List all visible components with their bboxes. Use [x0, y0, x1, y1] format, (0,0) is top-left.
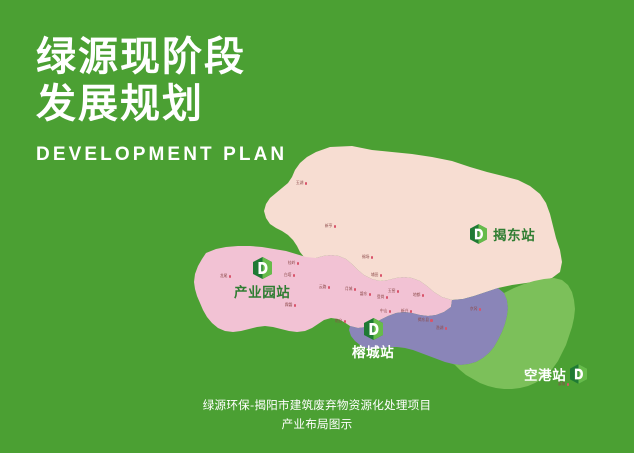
city-name-label: 锡场 — [362, 255, 370, 260]
city-name-label: 霖磐 — [285, 303, 293, 308]
poster-title-line-1: 绿源现阶段 — [36, 34, 287, 81]
city-dot: 新兴 — [401, 309, 412, 314]
city-dot-glyph — [430, 319, 433, 322]
station-marker-rongcheng[interactable]: 榕城站 — [352, 318, 394, 361]
city-dot-glyph — [386, 296, 389, 299]
city-dot: 锡场 — [362, 255, 373, 260]
city-dot-glyph — [369, 293, 372, 296]
city-dot: 霖磐 — [285, 303, 296, 308]
lvyuan-logo-icon — [570, 364, 587, 384]
station-marker-konggang[interactable]: 空港站 — [524, 364, 587, 384]
city-dot-glyph — [328, 286, 331, 289]
city-name-label: 云路 — [319, 285, 327, 290]
city-dot: 渔湖 — [436, 326, 447, 331]
poster-subtitle-en: DEVELOPMENT PLAN — [36, 144, 287, 166]
city-dot: 埔田 — [371, 273, 382, 278]
caption-line-2: 产业布局图示 — [0, 415, 634, 434]
station-label-konggang: 空港站 — [524, 364, 566, 384]
city-dot: 磐东 — [360, 292, 371, 297]
city-dot-glyph — [422, 294, 425, 297]
city-dot: 玉湖 — [296, 181, 307, 186]
city-name-label: 新亨 — [325, 224, 333, 229]
city-dot-glyph — [293, 274, 296, 277]
city-dot: 中山 — [380, 309, 391, 314]
title-block: 绿源现阶段 发展规划 DEVELOPMENT PLAN — [36, 34, 287, 166]
city-dot-glyph — [344, 320, 347, 323]
city-dot: 炮台 — [335, 319, 346, 324]
city-dot: 揭东县 — [418, 318, 433, 323]
city-dot-glyph — [371, 256, 374, 259]
city-name-label: 登岗 — [377, 295, 385, 300]
city-dot-glyph — [479, 308, 482, 311]
city-name-label: 玉湖 — [296, 181, 304, 186]
city-dot-glyph — [445, 327, 448, 330]
city-dot-glyph — [380, 274, 383, 277]
city-dot-glyph — [354, 288, 357, 291]
city-name-label: 渔湖 — [436, 326, 444, 331]
city-dot-glyph — [410, 310, 413, 313]
city-name-label: 玉窖 — [388, 289, 396, 294]
station-label-rongcheng: 榕城站 — [352, 341, 394, 361]
city-dot-glyph — [389, 310, 392, 313]
station-marker-jiedong[interactable]: 揭东站 — [470, 224, 535, 244]
lvyuan-logo-icon — [253, 257, 272, 279]
poster-root: 玉湖新亨锡场龙尾桂岭白塔云路霖磐月城埔田磐东登岗玉窖中山新兴地都炮台揭东县渔湖京… — [0, 0, 634, 453]
city-dot: 新亨 — [325, 224, 336, 229]
city-dot: 龙尾 — [220, 274, 231, 279]
city-name-label: 龙尾 — [220, 274, 228, 279]
lvyuan-logo-icon — [470, 224, 487, 244]
city-name-label: 地都 — [413, 293, 421, 298]
city-dot-glyph — [397, 290, 400, 293]
city-name-label: 炮台 — [335, 319, 343, 324]
city-dot: 地都 — [413, 293, 424, 298]
city-dot-glyph — [229, 275, 232, 278]
station-marker-chanyeyuan[interactable]: 产业园站 — [234, 257, 290, 301]
city-dot: 月城 — [345, 287, 356, 292]
lvyuan-logo-icon — [364, 318, 383, 340]
city-name-label: 新兴 — [401, 309, 409, 314]
city-dot-glyph — [334, 225, 337, 228]
city-dot-glyph — [297, 262, 300, 265]
city-dot-glyph — [294, 304, 297, 307]
city-dot: 玉窖 — [388, 289, 399, 294]
city-name-label: 揭东县 — [418, 318, 429, 323]
city-dot-glyph — [305, 182, 308, 185]
poster-caption: 绿源环保-揭阳市建筑废弃物资源化处理项目 产业布局图示 — [0, 396, 634, 434]
poster-title-line-2: 发展规划 — [36, 81, 287, 128]
caption-line-1: 绿源环保-揭阳市建筑废弃物资源化处理项目 — [0, 396, 634, 415]
city-name-label: 月城 — [345, 287, 353, 292]
city-name-label: 磐东 — [360, 292, 368, 297]
city-dot: 登岗 — [377, 295, 388, 300]
city-name-label: 埔田 — [371, 273, 379, 278]
station-label-jiedong: 揭东站 — [493, 224, 535, 244]
station-label-chanyeyuan: 产业园站 — [234, 281, 290, 301]
city-dot: 京冈 — [470, 307, 481, 312]
city-dot: 云路 — [319, 285, 330, 290]
city-name-label: 中山 — [380, 309, 388, 314]
city-name-label: 京冈 — [470, 307, 478, 312]
